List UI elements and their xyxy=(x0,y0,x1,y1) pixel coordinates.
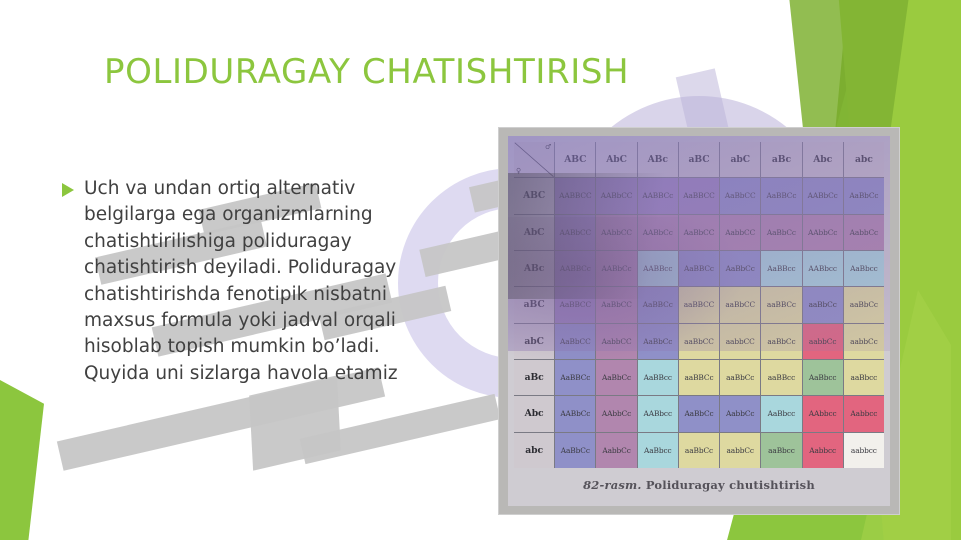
punnett-cell: AABBCC xyxy=(555,178,595,213)
punnett-cell: AaBbCC xyxy=(555,324,595,359)
punnett-cell: AaBbcc xyxy=(638,433,678,468)
punnett-cell: AaBbCc xyxy=(720,251,760,286)
punnett-cell: AabbCc xyxy=(844,215,884,250)
punnett-cell: AaBbCc xyxy=(638,324,678,359)
punnett-cell: AaBBCc xyxy=(555,360,595,395)
punnett-cell: AabbCC xyxy=(596,324,636,359)
body-line: chatishtirilishiga poliduragay xyxy=(84,229,398,255)
punnett-cell: AaBBCc xyxy=(761,178,801,213)
punnett-cell: AaBBcc xyxy=(761,251,801,286)
punnett-cell: AaBbCC xyxy=(596,287,636,322)
punnett-square-grid: ♀♂ABCAbCABcaBCabCaBcAbcabcABCAABBCCAABbC… xyxy=(514,142,884,468)
punnett-cell: AaBbCc xyxy=(596,360,636,395)
punnett-cell: AABbcc xyxy=(638,396,678,431)
slide-title: POLIDURAGAY CHATISHTIRISH xyxy=(104,52,724,92)
punnett-cell: aabbCc xyxy=(720,433,760,468)
figure-caption: 82-rasm. Poliduragay chutishtirish xyxy=(508,470,890,500)
punnett-cell: AaBBCc xyxy=(679,251,719,286)
body-line: Uch va undan ortiq alternativ xyxy=(84,176,398,202)
punnett-cell: aaBbcc xyxy=(761,433,801,468)
punnett-cell: aaBBCc xyxy=(761,287,801,322)
punnett-column-header: aBc xyxy=(761,142,801,177)
punnett-cell: aaBBcc xyxy=(761,360,801,395)
punnett-cell: AaBbCc xyxy=(844,178,884,213)
body-line: belgilarga ega organizmlarning xyxy=(84,202,398,228)
body-line: chatishtirish deyiladi. Poliduragay xyxy=(84,255,398,281)
punnett-cell: AaBbcc xyxy=(803,360,843,395)
punnett-cell: AaBbCc xyxy=(555,433,595,468)
punnett-cell: aaBbCc xyxy=(803,287,843,322)
body-line: maxsus formula yoki jadval orqali xyxy=(84,308,398,334)
punnett-cell: AaBBCC xyxy=(679,178,719,213)
body-line: chatishtirishda fenotipik nisbatni xyxy=(84,282,398,308)
figure-caption-text: Poliduragay chutishtirish xyxy=(646,478,815,492)
punnett-row-header: ABc xyxy=(514,251,554,286)
triangle-bullet-icon xyxy=(62,183,74,197)
punnett-corner-cell: ♀♂ xyxy=(514,142,554,177)
punnett-cell: AAbbCC xyxy=(596,215,636,250)
punnett-cell: AABbCc xyxy=(596,251,636,286)
punnett-row-header: aBC xyxy=(514,287,554,322)
punnett-cell: aaBbcc xyxy=(844,360,884,395)
punnett-square-figure: ♀♂ABCAbCABcaBCabCaBcAbcabcABCAABBCCAABbC… xyxy=(499,128,899,514)
punnett-cell: AAbbcc xyxy=(803,396,843,431)
female-symbol-icon: ♀ xyxy=(516,168,521,175)
punnett-row-header: Abc xyxy=(514,396,554,431)
punnett-column-header: Abc xyxy=(803,142,843,177)
male-symbol-icon: ♂ xyxy=(545,144,551,151)
punnett-cell: AaBBCc xyxy=(638,287,678,322)
punnett-row-header: abc xyxy=(514,433,554,468)
body-bullet-block: Uch va undan ortiq alternativ belgilarga… xyxy=(62,176,502,387)
punnett-cell: aabbcc xyxy=(844,433,884,468)
punnett-cell: aabbCc xyxy=(844,324,884,359)
punnett-cell: AaBbCC xyxy=(679,215,719,250)
punnett-cell: AABbcc xyxy=(803,251,843,286)
punnett-cell: AaBbCC xyxy=(720,178,760,213)
punnett-column-header: aBC xyxy=(679,142,719,177)
punnett-row-header: ABC xyxy=(514,178,554,213)
punnett-cell: aaBbCC xyxy=(720,287,760,322)
punnett-cell: AABBCc xyxy=(555,251,595,286)
figure-inner-panel: ♀♂ABCAbCABcaBCabCaBcAbcabcABCAABBCCAABbC… xyxy=(508,136,890,506)
punnett-cell: Aabbcc xyxy=(844,396,884,431)
punnett-cell: aaBbCC xyxy=(679,324,719,359)
punnett-cell: AABBcc xyxy=(638,251,678,286)
punnett-cell: AaBBCC xyxy=(555,287,595,322)
punnett-column-header: ABC xyxy=(555,142,595,177)
punnett-cell: AabbCc xyxy=(596,433,636,468)
decor-green-left-strip xyxy=(0,380,44,540)
punnett-cell: AabbCC xyxy=(720,215,760,250)
punnett-cell: AAbbCc xyxy=(596,396,636,431)
punnett-cell: aaBbCc xyxy=(720,360,760,395)
punnett-cell: aaBBCC xyxy=(679,287,719,322)
figure-caption-number: 82-rasm. xyxy=(583,478,642,492)
punnett-row-header: AbC xyxy=(514,215,554,250)
punnett-cell: AABbCc xyxy=(803,178,843,213)
punnett-cell: aaBbCc xyxy=(844,287,884,322)
body-line: hisoblab topish mumkin bo’ladi. xyxy=(84,334,398,360)
punnett-cell: AaBbcc xyxy=(844,251,884,286)
punnett-cell: AABbCC xyxy=(596,178,636,213)
punnett-cell: AaBbCc xyxy=(761,215,801,250)
punnett-cell: AAbbCc xyxy=(803,215,843,250)
body-paragraph: Uch va undan ortiq alternativ belgilarga… xyxy=(84,176,398,387)
punnett-cell: aabbCc xyxy=(803,324,843,359)
punnett-cell: aaBbCc xyxy=(679,433,719,468)
punnett-cell: AabbCc xyxy=(720,396,760,431)
punnett-column-header: abc xyxy=(844,142,884,177)
punnett-column-header: abC xyxy=(720,142,760,177)
punnett-cell: AABbCc xyxy=(638,215,678,250)
punnett-row-header: aBc xyxy=(514,360,554,395)
punnett-cell: AABBCc xyxy=(638,178,678,213)
punnett-column-header: ABc xyxy=(638,142,678,177)
punnett-cell: AABbCC xyxy=(555,215,595,250)
punnett-cell: aaBBCc xyxy=(679,360,719,395)
punnett-cell: AaBbcc xyxy=(761,396,801,431)
punnett-cell: aabbCC xyxy=(720,324,760,359)
punnett-column-header: AbC xyxy=(596,142,636,177)
punnett-cell: AABbCc xyxy=(555,396,595,431)
punnett-cell: aaBbCc xyxy=(761,324,801,359)
punnett-row-header: abC xyxy=(514,324,554,359)
punnett-cell: AaBbCc xyxy=(679,396,719,431)
punnett-cell: Aabbcc xyxy=(803,433,843,468)
body-line: Quyida uni sizlarga havola etamiz xyxy=(84,361,398,387)
punnett-cell: AaBBcc xyxy=(638,360,678,395)
